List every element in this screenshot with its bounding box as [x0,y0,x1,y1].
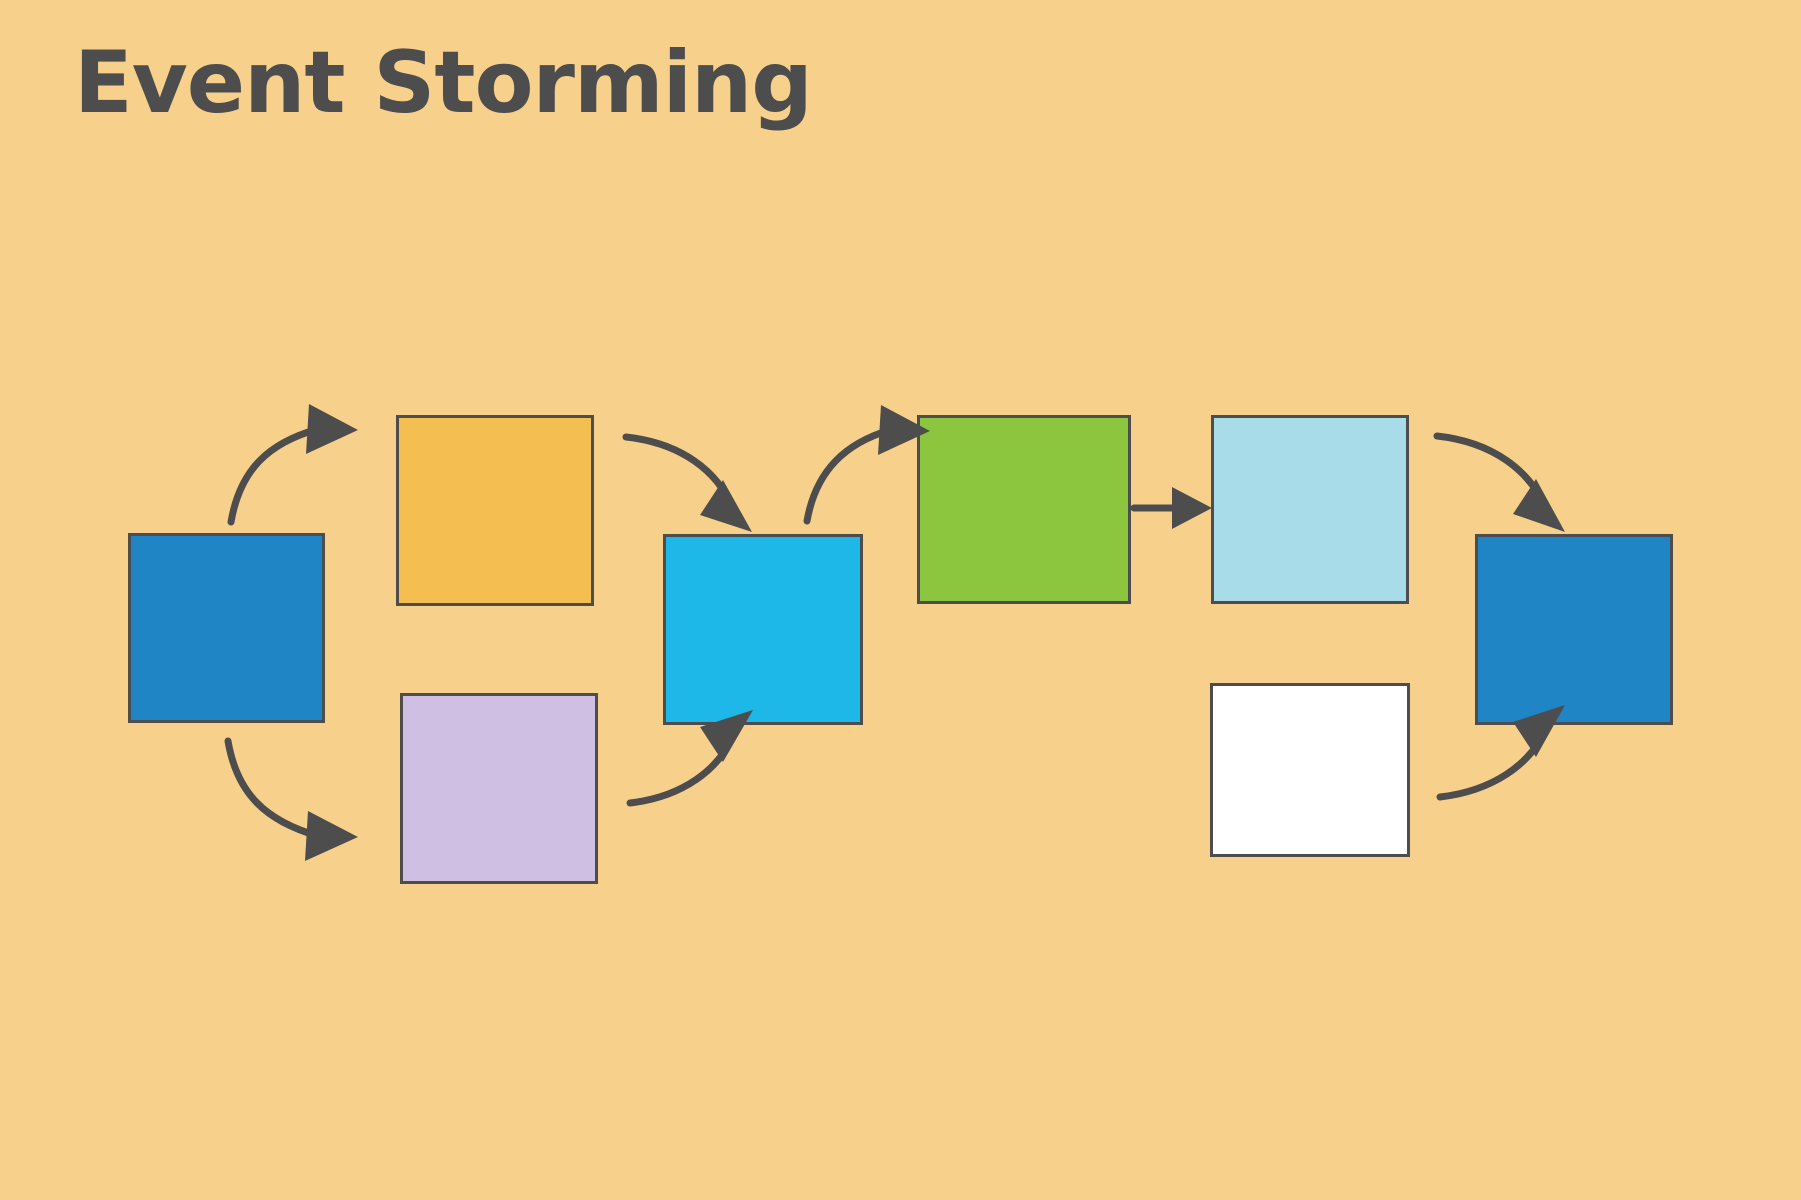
curved-arrow-blue-start-to-purple [228,741,358,861]
blue-sticky-note-end[interactable] [1475,534,1673,725]
cyan-sticky-note[interactable] [663,534,863,725]
light-blue-sticky-note[interactable] [1211,415,1409,604]
curved-arrow-blue-start-to-orange [231,404,358,522]
green-sticky-note[interactable] [917,415,1131,604]
white-sticky-note[interactable] [1210,683,1410,857]
curved-arrow-orange-to-cyan [626,437,752,532]
diagram-canvas: Event Storming [0,0,1801,1200]
orange-sticky-note[interactable] [396,415,594,606]
curved-arrow-cyan-to-green [807,405,930,521]
purple-sticky-note[interactable] [400,693,598,884]
straight-arrow-green-to-light-blue [1134,487,1212,529]
blue-sticky-note-start[interactable] [128,533,325,723]
page-title: Event Storming [74,38,812,128]
curved-arrow-light-blue-to-blue-end [1437,436,1565,532]
